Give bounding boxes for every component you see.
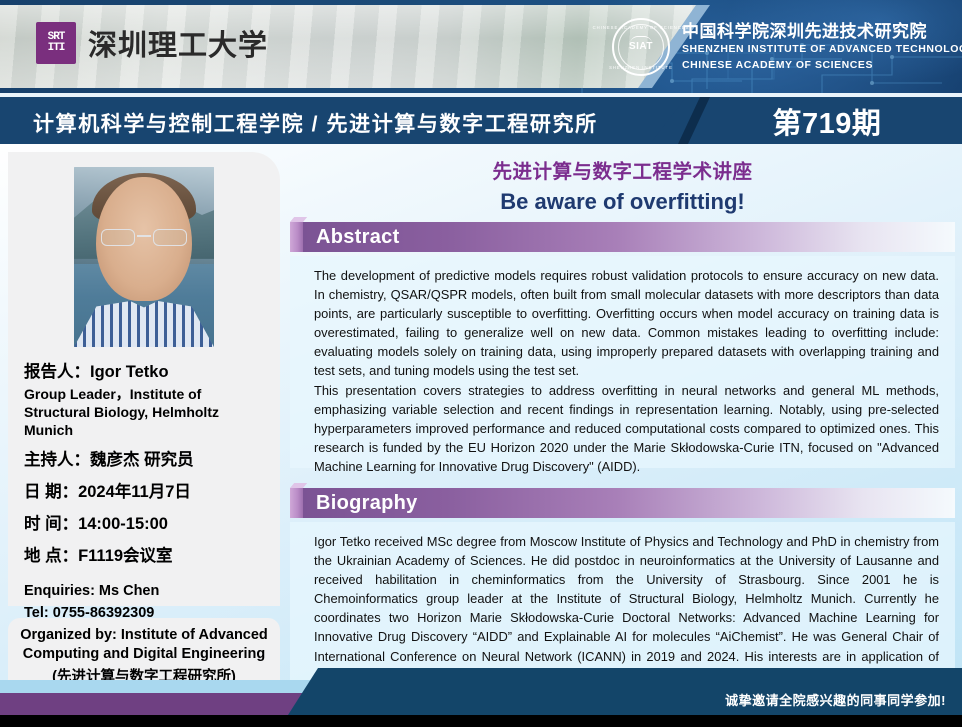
- department-title-bar: 计算机科学与控制工程学院 / 先进计算与数字工程研究所 第719期: [0, 97, 962, 144]
- speaker-info-block: 报告人：Igor Tetko Group Leader，Institute of…: [8, 347, 280, 647]
- abstract-tab-accent: [290, 222, 303, 252]
- speaker-label: 报告人：: [24, 363, 90, 381]
- department-name: 计算机科学与控制工程学院 / 先进计算与数字工程研究所: [33, 108, 598, 138]
- organizer-line-1: Organized by: Institute of Advanced: [20, 626, 268, 645]
- enquiries-line: Enquiries: Ms Chen: [24, 581, 280, 603]
- seal-abbr: SIAT: [629, 42, 653, 52]
- host-row: 主持人：魏彦杰 研究员: [24, 449, 280, 472]
- lecture-series-name: 先进计算与数字工程学术讲座: [290, 155, 955, 184]
- siat-branding: CHINESE ACADEMY OF SCIENCES SIAT SHENZHE…: [612, 18, 962, 76]
- speaker-portrait: [74, 167, 214, 347]
- biography-section-header: Biography: [290, 488, 955, 518]
- speaker-name: Igor Tetko: [90, 363, 169, 381]
- biography-tab-accent: [290, 488, 303, 518]
- siat-text-block: 中国科学院深圳先进技术研究院 SHENZHEN INSTITUTE OF ADV…: [682, 21, 962, 73]
- institute-name-en-1: SHENZHEN INSTITUTE OF ADVANCED TECHNOLOG…: [682, 42, 962, 57]
- siat-seal-icon: CHINESE ACADEMY OF SCIENCES SIAT SHENZHE…: [612, 18, 670, 76]
- date-row: 日 期：2024年11月7日: [24, 481, 280, 504]
- abstract-content-panel: The development of predictive models req…: [290, 256, 955, 468]
- abstract-paragraph-2: This presentation covers strategies to a…: [314, 381, 939, 476]
- lecture-poster: SRT ITI 深圳理工大学 CHINESE ACADEMY OF SCIENC…: [0, 0, 962, 727]
- lecture-title: Be aware of overfitting!: [290, 189, 955, 215]
- speaker-affiliation: Group Leader，Institute of Structural Bio…: [24, 385, 280, 440]
- abstract-section-header: Abstract: [290, 222, 955, 252]
- abstract-paragraph-1: The development of predictive models req…: [314, 266, 939, 381]
- biography-header-bar: Biography: [303, 488, 955, 518]
- glasses-lens-right: [153, 229, 187, 246]
- venue-row: 地 点：F1119会议室: [24, 545, 280, 568]
- seal-arc-top: CHINESE ACADEMY OF SCIENCES: [593, 25, 690, 30]
- university-logo-icon: SRT ITI: [36, 22, 76, 64]
- issue-number-container: 第719期: [692, 97, 962, 144]
- university-logo-line2: ITI: [48, 43, 65, 54]
- institute-name-cn: 中国科学院深圳先进技术研究院: [682, 21, 962, 42]
- institute-name-en-2: CHINESE ACADEMY OF SCIENCES: [682, 58, 962, 73]
- speaker-sidebar: 报告人：Igor Tetko Group Leader，Institute of…: [8, 152, 280, 606]
- abstract-label: Abstract: [316, 226, 400, 249]
- abstract-header-bar: Abstract: [303, 222, 955, 252]
- organizer-line-2: Computing and Digital Engineering: [23, 645, 265, 664]
- poster-header: SRT ITI 深圳理工大学 CHINESE ACADEMY OF SCIENC…: [0, 0, 962, 93]
- biography-paragraph: Igor Tetko received MSc degree from Mosc…: [314, 532, 939, 685]
- glasses-lens-left: [101, 229, 135, 246]
- glasses-bridge: [137, 235, 151, 237]
- biography-label: Biography: [316, 492, 418, 515]
- university-name: 深圳理工大学: [88, 22, 268, 64]
- biography-content-panel: Igor Tetko received MSc degree from Mosc…: [290, 522, 955, 680]
- seal-arc-bottom: SHENZHEN INSTITUTE: [609, 65, 673, 70]
- footer-black-strip: [0, 715, 962, 727]
- university-branding: SRT ITI 深圳理工大学: [36, 22, 268, 64]
- issue-number: 第719期: [773, 100, 882, 142]
- portrait-glasses-icon: [99, 229, 189, 247]
- speaker-name-row: 报告人：Igor Tetko: [24, 361, 280, 384]
- time-row: 时 间：14:00-15:00: [24, 513, 280, 536]
- footer-invitation-note: 诚挚邀请全院感兴趣的同事同学参加!: [725, 690, 946, 709]
